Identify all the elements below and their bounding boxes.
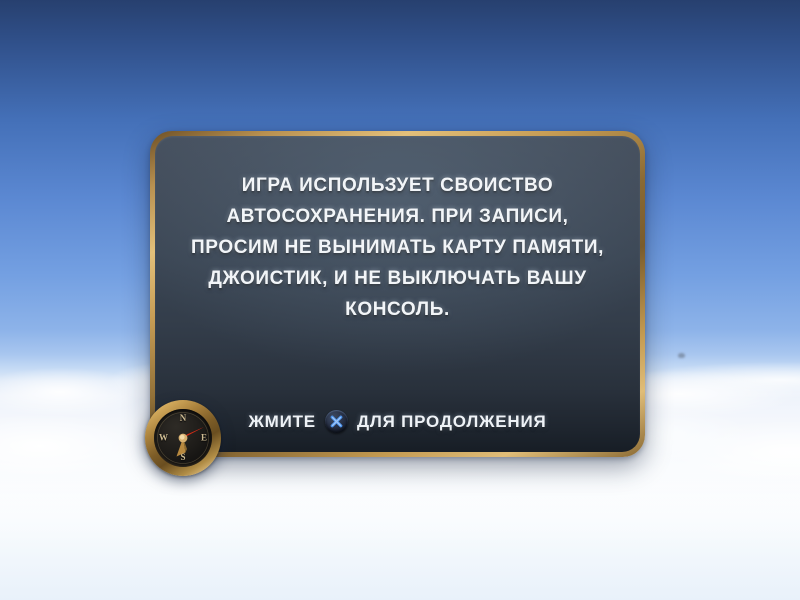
prompt-label-after: ДЛЯ ПРОДОЛЖЕНИЯ bbox=[357, 412, 547, 432]
autosave-dialog-panel: ИГРА ИСПОЛЬЗУЕТ СВОИСТВО АВТОСОХРАНЕНИЯ.… bbox=[150, 131, 645, 457]
compass-emblem: N E S W bbox=[145, 400, 221, 476]
message-line-5: КОНСОЛЬ. bbox=[155, 294, 640, 325]
compass-south-label: S bbox=[180, 453, 185, 462]
message-line-2: АВТОСОХРАНЕНИЯ. ПРИ ЗАПИСИ, bbox=[155, 201, 640, 232]
message-line-4: ДЖОИСТИК, И НЕ ВЫКЛЮЧАТЬ ВАШУ bbox=[155, 263, 640, 294]
continue-prompt[interactable]: ЖМИТЕ ДЛЯ ПРОДОЛЖЕНИЯ bbox=[155, 410, 640, 433]
autosave-message: ИГРА ИСПОЛЬЗУЕТ СВОИСТВО АВТОСОХРАНЕНИЯ.… bbox=[155, 170, 640, 325]
compass-east-label: E bbox=[201, 434, 207, 443]
dialog-inner-surface: ИГРА ИСПОЛЬЗУЕТ СВОИСТВО АВТОСОХРАНЕНИЯ.… bbox=[155, 136, 640, 452]
compass-west-label: W bbox=[159, 434, 168, 443]
horizon-haze bbox=[0, 470, 800, 600]
compass-north-label: N bbox=[180, 414, 187, 423]
compass-face: N E S W bbox=[154, 409, 212, 467]
message-line-3: ПРОСИМ НЕ ВЫНИМАТЬ КАРТУ ПАМЯТИ, bbox=[155, 232, 640, 263]
message-line-1: ИГРА ИСПОЛЬЗУЕТ СВОИСТВО bbox=[155, 170, 640, 201]
game-screen: ИГРА ИСПОЛЬЗУЕТ СВОИСТВО АВТОСОХРАНЕНИЯ.… bbox=[0, 0, 800, 600]
prompt-label-before: ЖМИТЕ bbox=[248, 412, 315, 432]
cross-button-icon[interactable] bbox=[325, 410, 348, 433]
distant-aircraft-icon bbox=[678, 353, 685, 358]
